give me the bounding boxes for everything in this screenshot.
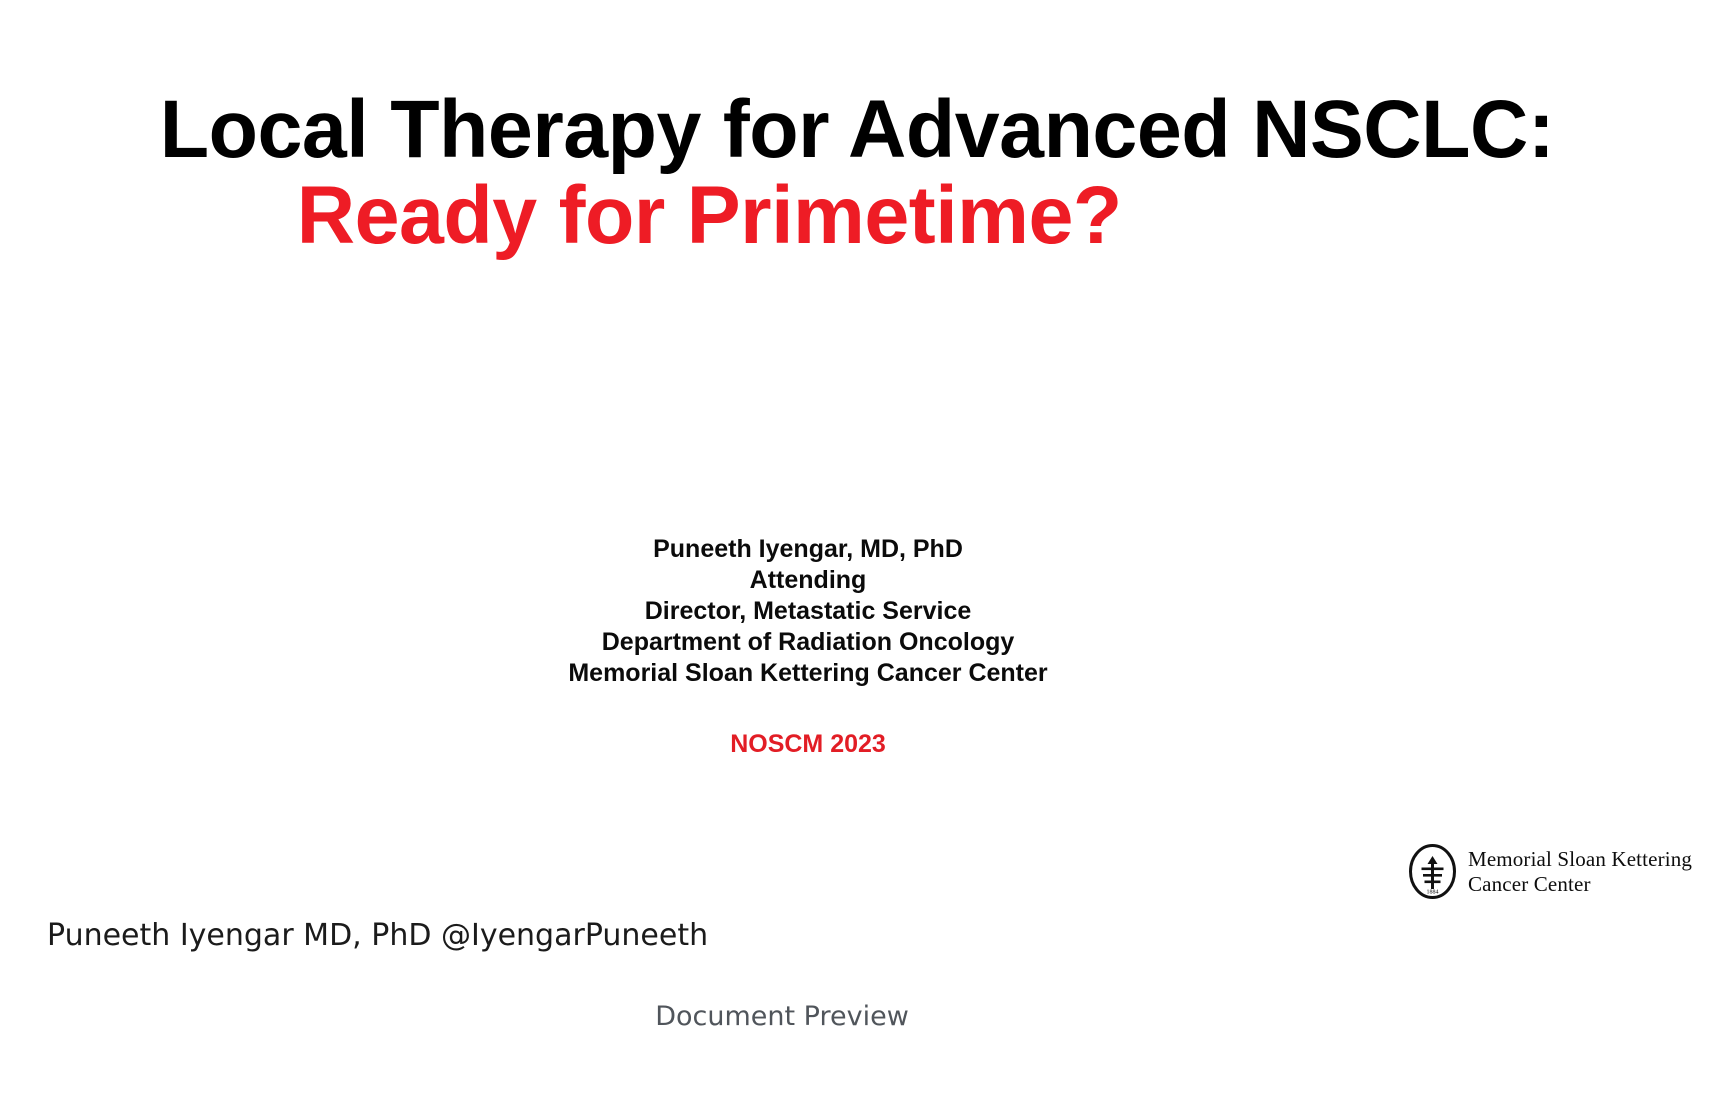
slide-canvas: Local Therapy for Advanced NSCLC: Ready … <box>0 0 1714 1112</box>
document-preview-label: Document Preview <box>0 1000 1714 1033</box>
msk-wordmark-line1: Memorial Sloan Kettering <box>1468 847 1692 872</box>
msk-wordmark: Memorial Sloan Kettering Cancer Center <box>1468 847 1692 897</box>
title-line-secondary: Ready for Primetime? <box>13 172 1701 258</box>
author-institution: Memorial Sloan Kettering Cancer Center <box>0 658 1616 689</box>
author-department: Department of Radiation Oncology <box>0 627 1616 658</box>
author-name: Puneeth Iyengar, MD, PhD <box>0 534 1616 565</box>
title-line-primary: Local Therapy for Advanced NSCLC: <box>13 88 1701 172</box>
conference-name: NOSCM 2023 <box>0 729 1616 760</box>
author-role: Attending <box>0 565 1616 596</box>
svg-text:1884: 1884 <box>1427 890 1439 896</box>
author-title: Director, Metastatic Service <box>0 596 1616 627</box>
msk-wordmark-line2: Cancer Center <box>1468 872 1692 897</box>
slide-title: Local Therapy for Advanced NSCLC: Ready … <box>0 88 1714 257</box>
msk-logo: 1884 Memorial Sloan Kettering Cancer Cen… <box>1408 843 1692 900</box>
presenter-handle-caption: Puneeth Iyengar MD, PhD @IyengarPuneeth <box>47 918 708 954</box>
author-affiliation-block: Puneeth Iyengar, MD, PhD Attending Direc… <box>0 534 1714 760</box>
msk-tree-emblem-icon: 1884 <box>1408 843 1457 900</box>
